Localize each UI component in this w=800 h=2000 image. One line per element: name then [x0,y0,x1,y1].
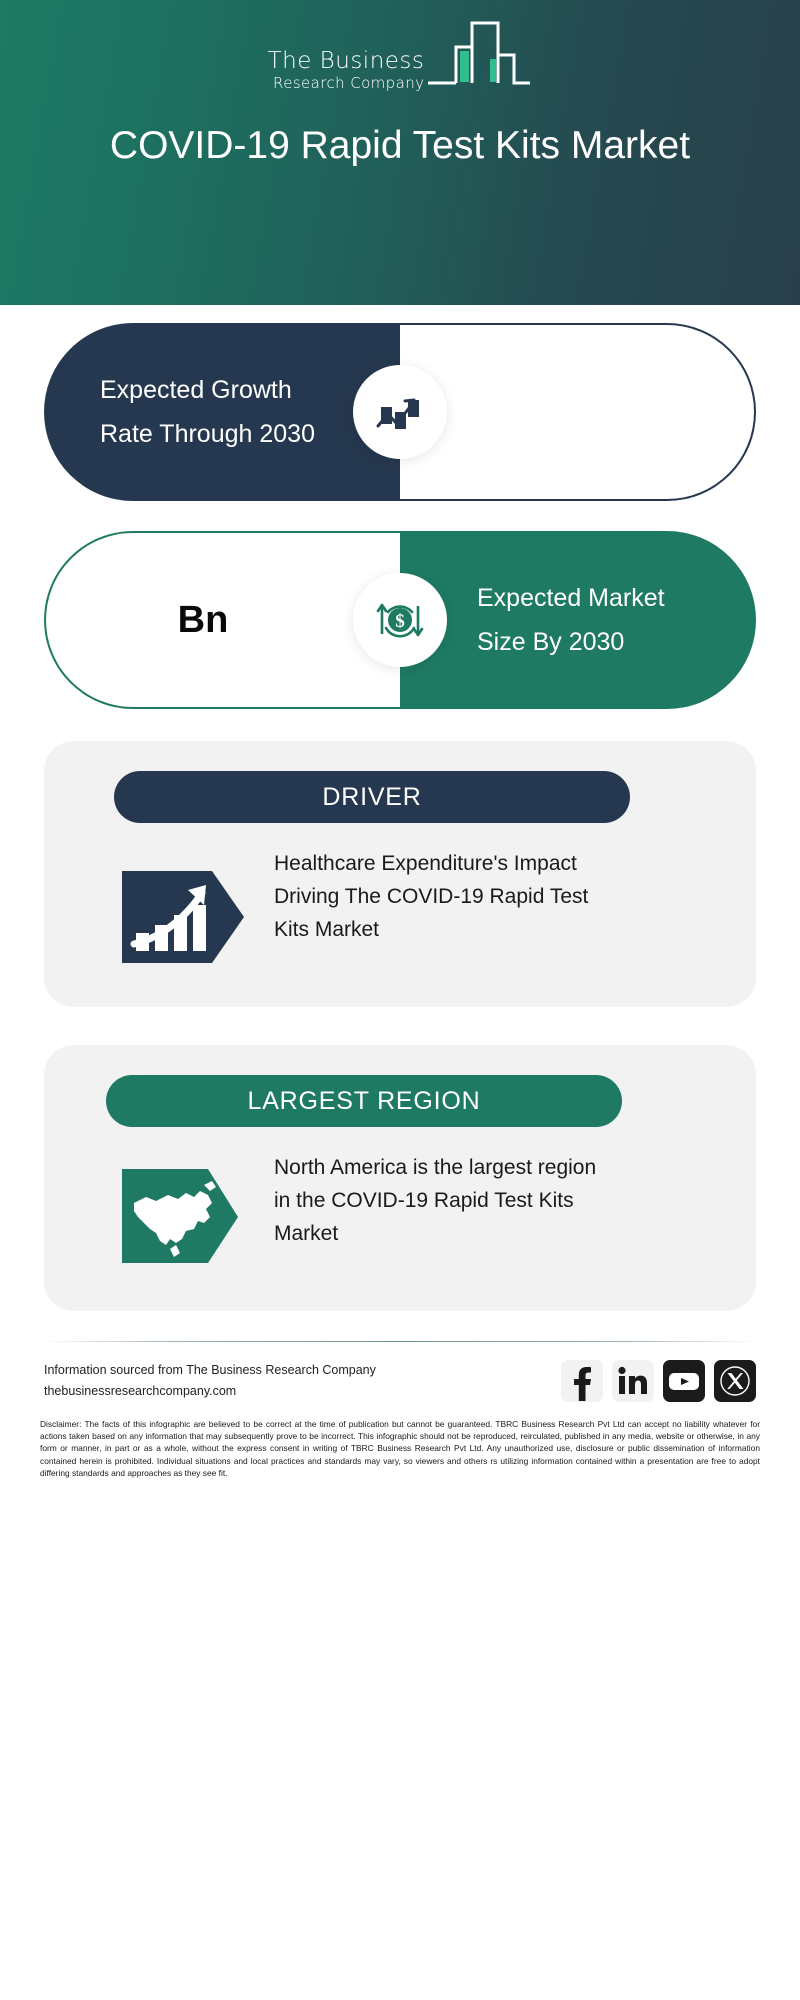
linkedin-icon[interactable] [612,1360,654,1402]
largest-region-pill-label: LARGEST REGION [247,1087,480,1116]
stat-card-growth-rate: Expected Growth Rate Through 2030 [44,323,756,501]
largest-region-panel: LARGEST REGION North America is the larg… [44,1045,756,1311]
dollar-circular-arrows-icon: $ [353,573,447,667]
driver-text: Healthcare Expenditure's Impact Driving … [274,847,604,946]
largest-region-text: North America is the largest region in t… [274,1151,604,1250]
driver-pill: DRIVER [114,771,630,823]
driver-panel: DRIVER Healthcare Expenditure's Impact D… [44,741,756,1007]
footer: Information sourced from The Business Re… [44,1360,756,1402]
driver-pill-label: DRIVER [322,783,421,812]
north-america-map-icon [120,1151,246,1277]
market-size-label-panel: Expected Market Size By 2030 [400,531,756,709]
footer-divider [44,1341,756,1342]
logo-wordmark: The Business Research Company [268,48,425,94]
youtube-icon[interactable] [663,1360,705,1402]
driver-body: Healthcare Expenditure's Impact Driving … [44,847,756,973]
growth-chart-arrow-icon [353,365,447,459]
largest-region-pill: LARGEST REGION [106,1075,622,1127]
upward-bar-chart-arrow-icon [120,847,246,973]
social-links [561,1360,756,1402]
bar-chart-logo-icon [426,17,532,94]
growth-rate-value-panel [400,323,756,501]
footer-source: Information sourced from The Business Re… [44,1360,376,1402]
infographic-header: The Business Research Company COVID-19 R… [0,0,800,305]
growth-rate-label-panel: Expected Growth Rate Through 2030 [44,323,400,501]
svg-text:$: $ [395,611,405,632]
growth-rate-label: Expected Growth Rate Through 2030 [100,368,330,456]
largest-region-body: North America is the largest region in t… [44,1151,756,1277]
footer-source-line-1: Information sourced from The Business Re… [44,1360,376,1381]
stat-card-market-size: Bn Expected Market Size By 2030 $ [44,531,756,709]
stat-cards-section: Expected Growth Rate Through 2030 Bn Exp… [0,323,800,709]
market-size-value: Bn [178,599,229,642]
page-title: COVID-19 Rapid Test Kits Market [80,120,720,172]
footer-website[interactable]: thebusinessresearchcompany.com [44,1381,376,1402]
facebook-icon[interactable] [561,1360,603,1402]
disclaimer-text: Disclaimer: The facts of this infographi… [40,1418,760,1479]
logo-line-2: Research Company [273,74,424,92]
company-logo: The Business Research Company [268,22,533,94]
logo-line-1: The Business [268,48,425,74]
x-twitter-icon[interactable] [714,1360,756,1402]
market-size-value-panel: Bn [44,531,400,709]
market-size-label: Expected Market Size By 2030 [477,576,707,664]
